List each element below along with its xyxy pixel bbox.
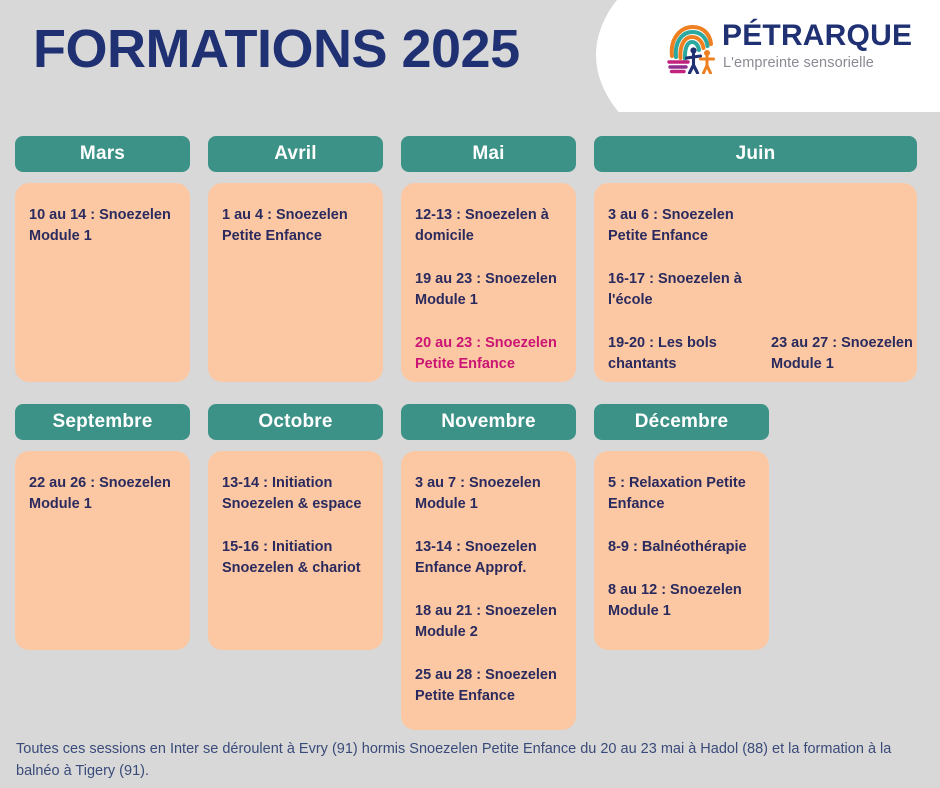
session-entry: 12-13 : Snoezelen à domicile — [415, 205, 562, 247]
page-title: FORMATIONS 2025 — [33, 14, 520, 84]
session-entry: 16-17 : Snoezelen à l'école — [608, 269, 771, 311]
month-name-label: Avril — [274, 143, 317, 165]
card-column-2: 23 au 27 : Snoezelen Module 1 — [771, 205, 931, 375]
logo-tagline: L'empreinte sensorielle — [723, 53, 922, 73]
month-header-juin: Juin — [594, 136, 917, 172]
month-name-label: Octobre — [258, 411, 332, 433]
session-entry: 18 au 21 : Snoezelen Module 2 — [415, 601, 562, 643]
month-name-label: Novembre — [441, 411, 536, 433]
month-card-mai: 12-13 : Snoezelen à domicile19 au 23 : S… — [401, 183, 576, 382]
month-header-octobre: Octobre — [208, 404, 383, 440]
month-card-octobre: 13-14 : Initiation Snoezelen & espace15-… — [208, 451, 383, 650]
session-entry: 10 au 14 : Snoezelen Module 1 — [29, 205, 176, 247]
month-name-label: Mai — [472, 143, 504, 165]
month-header-decembre: Décembre — [594, 404, 769, 440]
month-header-mars: Mars — [15, 136, 190, 172]
session-entry: 23 au 27 : Snoezelen Module 1 — [771, 333, 931, 375]
month-header-novembre: Novembre — [401, 404, 576, 440]
month-card-avril: 1 au 4 : Snoezelen Petite Enfance — [208, 183, 383, 382]
month-card-mars: 10 au 14 : Snoezelen Module 1 — [15, 183, 190, 382]
session-entry: 1 au 4 : Snoezelen Petite Enfance — [222, 205, 369, 247]
page-header: FORMATIONS 2025 — [0, 0, 940, 112]
session-entry: 22 au 26 : Snoezelen Module 1 — [29, 473, 176, 515]
session-entry: 3 au 6 : Snoezelen Petite Enfance — [608, 205, 771, 247]
month-card-decembre: 5 : Relaxation Petite Enfance8-9 : Balné… — [594, 451, 769, 650]
month-card-novembre: 3 au 7 : Snoezelen Module 113-14 : Snoez… — [401, 451, 576, 730]
card-column-group: 3 au 6 : Snoezelen Petite Enfance16-17 :… — [608, 205, 903, 375]
logo-wordmark: PÉTRARQUE — [722, 20, 922, 52]
month-card-septembre: 22 au 26 : Snoezelen Module 1 — [15, 451, 190, 650]
month-header-avril: Avril — [208, 136, 383, 172]
footer-note: Toutes ces sessions en Inter se déroulen… — [16, 738, 916, 782]
month-name-label: Septembre — [52, 411, 152, 433]
card-column-1: 3 au 6 : Snoezelen Petite Enfance16-17 :… — [608, 205, 771, 375]
session-entry: 3 au 7 : Snoezelen Module 1 — [415, 473, 562, 515]
fingerprint-figures-logo-icon — [666, 22, 720, 74]
session-entry: 8 au 12 : Snoezelen Module 1 — [608, 580, 755, 622]
month-card-juin: 3 au 6 : Snoezelen Petite Enfance16-17 :… — [594, 183, 917, 382]
month-name-label: Décembre — [635, 411, 728, 433]
month-name-label: Mars — [80, 143, 125, 165]
session-entry: 5 : Relaxation Petite Enfance — [608, 473, 755, 515]
session-entry: 25 au 28 : Snoezelen Petite Enfance — [415, 665, 562, 707]
session-entry: 20 au 23 : Snoezelen Petite Enfance — [415, 333, 562, 375]
month-name-label: Juin — [736, 143, 776, 165]
session-entry: 19-20 : Les bols chantants — [608, 333, 771, 375]
session-entry: 15-16 : Initiation Snoezelen & chariot — [222, 537, 369, 579]
month-header-mai: Mai — [401, 136, 576, 172]
logo-text-block: PÉTRARQUE L'empreinte sensorielle — [722, 20, 922, 73]
month-header-septembre: Septembre — [15, 404, 190, 440]
session-entry: 8-9 : Balnéothérapie — [608, 537, 755, 558]
session-entry: 13-14 : Snoezelen Enfance Approf. — [415, 537, 562, 579]
brand-logo: PÉTRARQUE L'empreinte sensorielle — [666, 20, 920, 78]
session-entry: 13-14 : Initiation Snoezelen & espace — [222, 473, 369, 515]
session-entry: 19 au 23 : Snoezelen Module 1 — [415, 269, 562, 311]
